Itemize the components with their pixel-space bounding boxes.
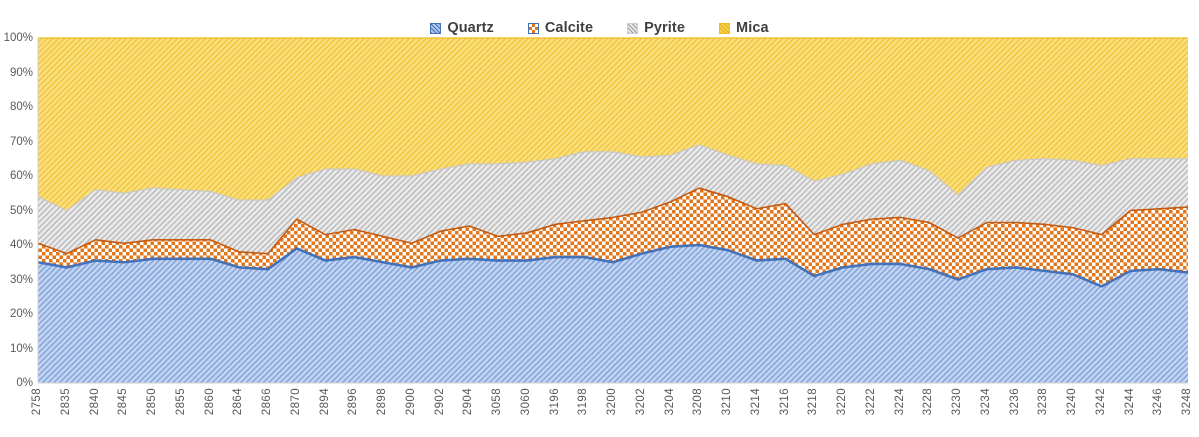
x-tick-label: 3248 [1181,388,1195,415]
x-tick-label: 2866 [261,388,275,415]
x-tick-label: 3242 [1095,388,1109,415]
x-tick-label: 2864 [232,388,246,415]
y-tick-label: 10% [0,343,33,355]
x-tick-label: 2855 [175,388,189,415]
x-tick-label: 2898 [376,388,390,415]
stacked-area-chart: Quartz Calcite Pyrite Mica [0,0,1199,437]
plot-area: 0%10%20%30%40%50%60%70%80%90%100% 275828… [0,0,1199,437]
y-tick-label: 50% [0,205,33,217]
x-tick-label: 3198 [577,388,591,415]
x-tick-label: 3216 [779,388,793,415]
x-tick-label: 2902 [434,388,448,415]
x-tick-label: 3214 [750,388,764,415]
y-tick-label: 20% [0,308,33,320]
y-tick-label: 40% [0,239,33,251]
x-tick-label: 2840 [89,388,103,415]
x-tick-label: 3060 [520,388,534,415]
x-tick-label: 2896 [347,388,361,415]
y-tick-label: 90% [0,67,33,79]
x-tick-label: 2894 [319,388,333,415]
x-tick-label: 3222 [865,388,879,415]
x-tick-label: 2870 [290,388,304,415]
x-tick-label: 2845 [117,388,131,415]
y-tick-label: 100% [0,32,33,44]
y-tick-label: 60% [0,170,33,182]
x-tick-label: 2900 [405,388,419,415]
y-tick-label: 0% [0,377,33,389]
x-tick-label: 2904 [462,388,476,415]
y-tick-label: 70% [0,136,33,148]
x-tick-label: 3196 [549,388,563,415]
x-tick-label: 3218 [807,388,821,415]
x-tick-label: 3204 [664,388,678,415]
plot-canvas [0,0,1199,437]
x-tick-label: 2758 [31,388,45,415]
x-tick-label: 3202 [635,388,649,415]
x-tick-label: 3244 [1124,388,1138,415]
x-tick-label: 3228 [922,388,936,415]
x-tick-label: 3220 [836,388,850,415]
x-tick-label: 3246 [1152,388,1166,415]
x-tick-label: 3224 [894,388,908,415]
x-tick-label: 3058 [491,388,505,415]
x-tick-label: 2860 [204,388,218,415]
x-tick-label: 2835 [60,388,74,415]
y-tick-label: 80% [0,101,33,113]
x-tick-label: 3236 [1009,388,1023,415]
x-tick-label: 3230 [951,388,965,415]
x-tick-label: 3210 [721,388,735,415]
y-tick-label: 30% [0,274,33,286]
x-tick-label: 3208 [692,388,706,415]
x-tick-label: 3200 [606,388,620,415]
x-tick-label: 3240 [1066,388,1080,415]
x-tick-label: 2850 [146,388,160,415]
x-tick-label: 3234 [980,388,994,415]
x-tick-label: 3238 [1037,388,1051,415]
